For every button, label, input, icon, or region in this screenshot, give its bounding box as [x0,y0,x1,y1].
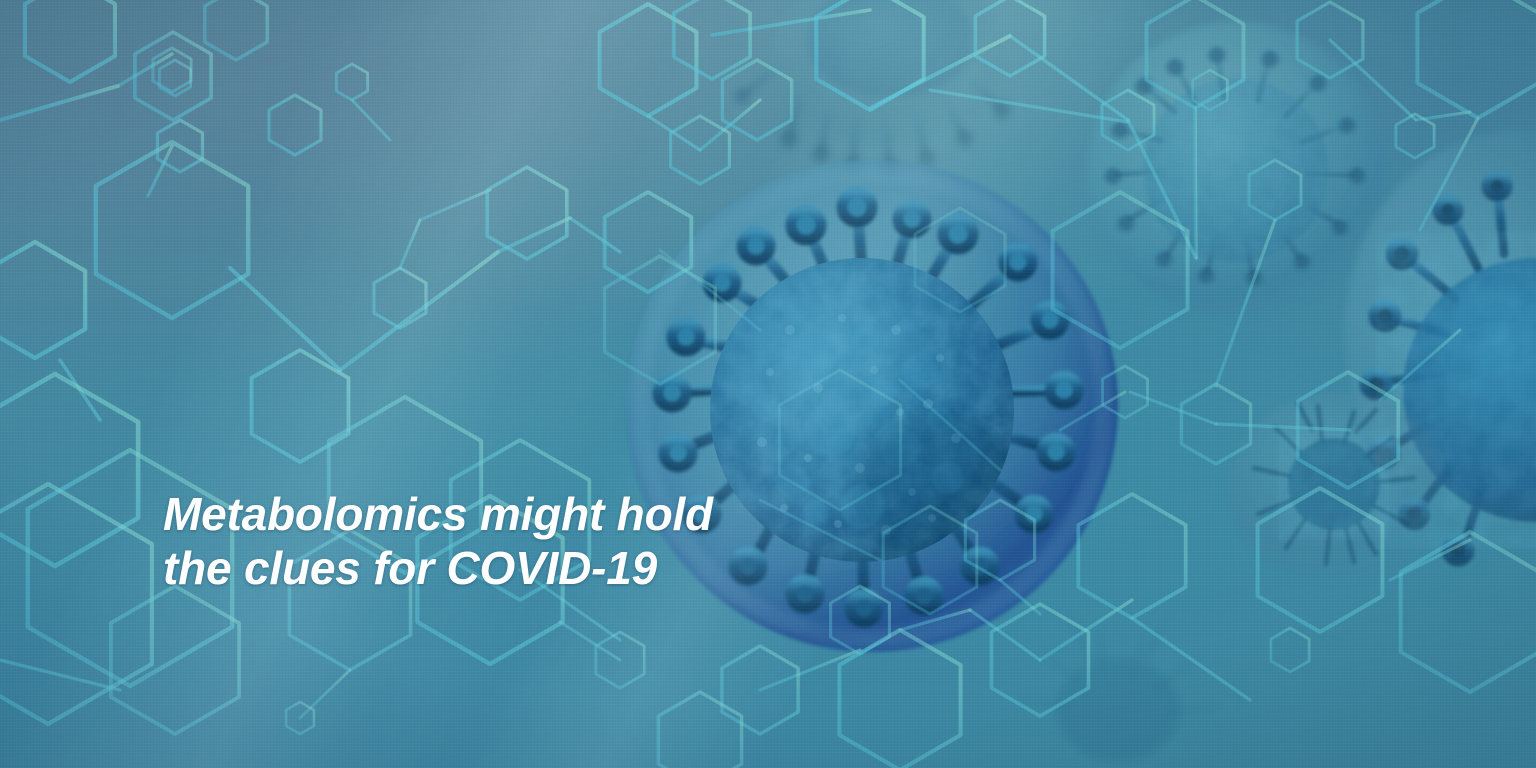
headline-line-2: the clues for COVID-19 [163,542,657,594]
covid-metabolomics-banner: Metabolomics might holdthe clues for COV… [0,0,1536,768]
light-wash-overlay [0,0,1536,768]
headline-line-1: Metabolomics might hold [163,488,713,540]
page-title: Metabolomics might holdthe clues for COV… [163,487,713,596]
